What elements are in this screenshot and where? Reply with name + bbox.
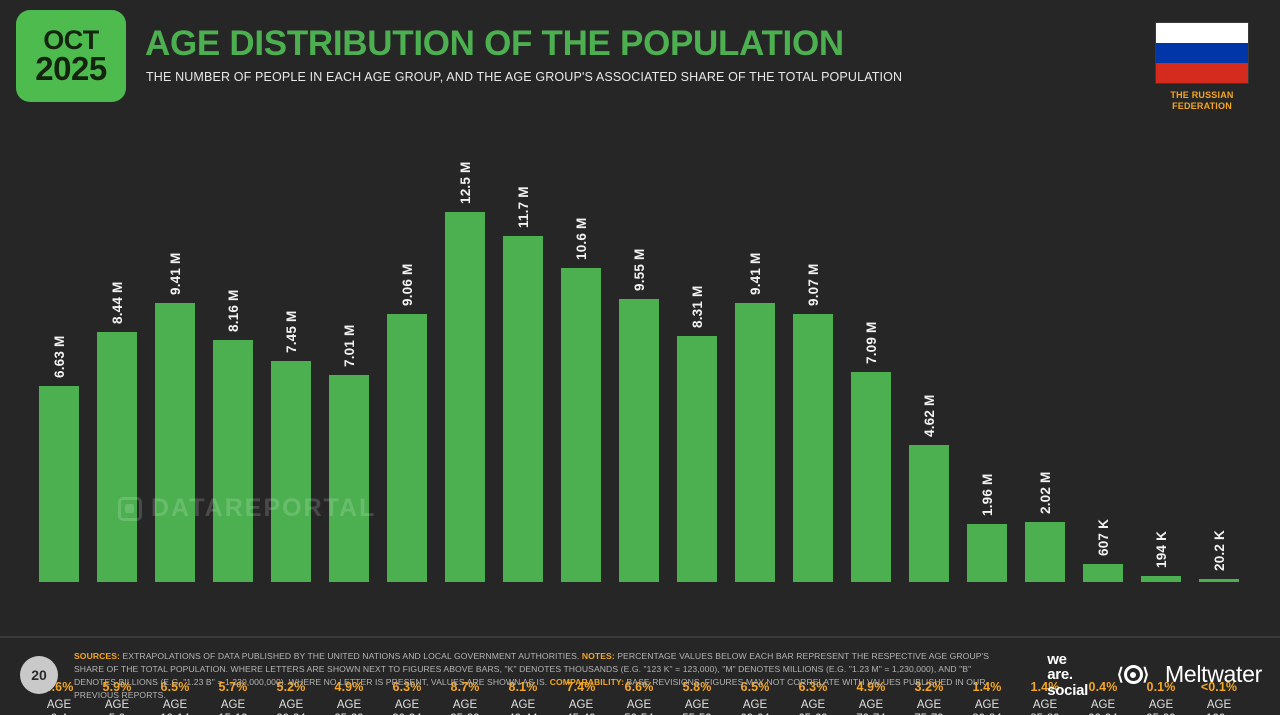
bar-value-label: 8.31 M xyxy=(690,286,705,328)
bar[interactable] xyxy=(793,314,833,582)
bar-slot: 9.07 M xyxy=(784,130,842,582)
bar-value-label: 4.62 M xyxy=(922,395,937,437)
bar[interactable] xyxy=(561,268,601,582)
bar-slot: 12.5 M xyxy=(436,130,494,582)
bar-slot: 2.02 M xyxy=(1016,130,1074,582)
bar-slot: 9.55 M xyxy=(610,130,668,582)
bar[interactable] xyxy=(851,372,891,582)
page-title: AGE DISTRIBUTION OF THE POPULATION xyxy=(145,24,844,64)
bar-value-label: 8.16 M xyxy=(226,290,241,332)
bar-slot: 607 K xyxy=(1074,130,1132,582)
bar[interactable] xyxy=(967,524,1007,582)
meltwater-wordmark: Meltwater xyxy=(1165,661,1262,688)
bar[interactable] xyxy=(329,375,369,582)
bar-value-label: 9.55 M xyxy=(632,249,647,291)
bar-slot: 8.31 M xyxy=(668,130,726,582)
bar-slot: 6.63 M xyxy=(30,130,88,582)
bar-slot: 4.62 M xyxy=(900,130,958,582)
chart-area: 6.63 M8.44 M9.41 M8.16 M7.45 M7.01 M9.06… xyxy=(0,110,1280,635)
bar[interactable] xyxy=(503,236,543,582)
was-line3: social xyxy=(1047,683,1088,698)
bar-value-label: 12.5 M xyxy=(458,162,473,204)
bar-slot: 7.01 M xyxy=(320,130,378,582)
bar-value-label: 607 K xyxy=(1096,519,1111,556)
bar[interactable] xyxy=(909,445,949,582)
bar-slot: 9.06 M xyxy=(378,130,436,582)
bar-value-label: 7.09 M xyxy=(864,322,879,364)
page-number-badge: 20 xyxy=(20,656,58,694)
footer: 20 SOURCES: EXTRAPOLATIONS OF DATA PUBLI… xyxy=(0,636,1280,715)
bar[interactable] xyxy=(677,336,717,582)
bar[interactable] xyxy=(387,314,427,582)
bar-plot: 6.63 M8.44 M9.41 M8.16 M7.45 M7.01 M9.06… xyxy=(30,130,1255,582)
bar-value-label: 9.06 M xyxy=(400,263,415,305)
date-badge-year: 2025 xyxy=(35,53,106,84)
bar[interactable] xyxy=(271,361,311,582)
bar-value-label: 6.63 M xyxy=(52,335,67,377)
header: OCT 2025 AGE DISTRIBUTION OF THE POPULAT… xyxy=(0,0,1280,110)
bar[interactable] xyxy=(1199,579,1239,582)
bar-slot: 9.41 M xyxy=(146,130,204,582)
eye-icon xyxy=(1124,665,1143,684)
bar[interactable] xyxy=(1083,564,1123,582)
bar-value-label: 9.07 M xyxy=(806,263,821,305)
bar-value-label: 9.41 M xyxy=(168,253,183,295)
bar[interactable] xyxy=(39,386,79,582)
chevron-left-icon: ⟨ xyxy=(1117,666,1124,683)
bar-value-label: 7.45 M xyxy=(284,311,299,353)
bar-value-label: 20.2 K xyxy=(1212,530,1227,571)
bar-value-label: 8.44 M xyxy=(110,282,125,324)
bar-slot: 1.96 M xyxy=(958,130,1016,582)
bar-slot: 11.7 M xyxy=(494,130,552,582)
slide-root: OCT 2025 AGE DISTRIBUTION OF THE POPULAT… xyxy=(0,0,1280,715)
footnote-comparability-key: COMPARABILITY: xyxy=(550,677,624,687)
bar-value-label: 2.02 M xyxy=(1038,472,1053,514)
bar-value-label: 10.6 M xyxy=(574,218,589,260)
page-subtitle: THE NUMBER OF PEOPLE IN EACH AGE GROUP, … xyxy=(146,70,902,84)
meltwater-mark-icon: ⟨ ⟩ xyxy=(1110,665,1156,685)
date-badge: OCT 2025 xyxy=(16,10,126,102)
footnote-sources-key: SOURCES: xyxy=(74,651,120,661)
bar-slot: 7.09 M xyxy=(842,130,900,582)
footnote-sources-text: EXTRAPOLATIONS OF DATA PUBLISHED BY THE … xyxy=(120,651,582,661)
bar[interactable] xyxy=(155,303,195,582)
bar-value-label: 11.7 M xyxy=(516,186,531,228)
bar-value-label: 1.96 M xyxy=(980,474,995,516)
bar-slot: 8.16 M xyxy=(204,130,262,582)
bar[interactable] xyxy=(1141,576,1181,582)
bar-value-label: 7.01 M xyxy=(342,324,357,366)
flag-stripe-blue xyxy=(1156,43,1248,63)
bar-slot: 9.41 M xyxy=(726,130,784,582)
country-caption-line1: THE RUSSIAN xyxy=(1152,90,1252,101)
bar[interactable] xyxy=(1025,522,1065,582)
bar-value-label: 194 K xyxy=(1154,531,1169,568)
bar-slot: 20.2 K xyxy=(1190,130,1248,582)
bar-slot: 194 K xyxy=(1132,130,1190,582)
footer-divider xyxy=(0,636,1280,638)
footnote-notes-key: NOTES: xyxy=(582,651,615,661)
bar-slot: 10.6 M xyxy=(552,130,610,582)
we-are-social-logo: we are. social xyxy=(1047,652,1088,698)
footnote-text: SOURCES: EXTRAPOLATIONS OF DATA PUBLISHE… xyxy=(74,650,1009,702)
bar[interactable] xyxy=(735,303,775,582)
bar-slot: 8.44 M xyxy=(88,130,146,582)
was-line1: we xyxy=(1047,652,1088,667)
was-line2: are. xyxy=(1047,667,1088,682)
flag-stripe-white xyxy=(1156,23,1248,43)
russia-flag-icon xyxy=(1155,22,1249,84)
bar[interactable] xyxy=(97,332,137,582)
country-flag-block: THE RUSSIAN FEDERATION xyxy=(1152,22,1252,113)
bar[interactable] xyxy=(445,212,485,582)
meltwater-logo: ⟨ ⟩ Meltwater xyxy=(1110,661,1262,688)
bar[interactable] xyxy=(619,299,659,582)
bar[interactable] xyxy=(213,340,253,582)
bar-value-label: 9.41 M xyxy=(748,253,763,295)
flag-stripe-red xyxy=(1156,63,1248,83)
brand-logos: we are. social ⟨ ⟩ Meltwater xyxy=(1047,652,1262,698)
bar-slot: 7.45 M xyxy=(262,130,320,582)
chevron-right-icon: ⟩ xyxy=(1143,666,1150,683)
